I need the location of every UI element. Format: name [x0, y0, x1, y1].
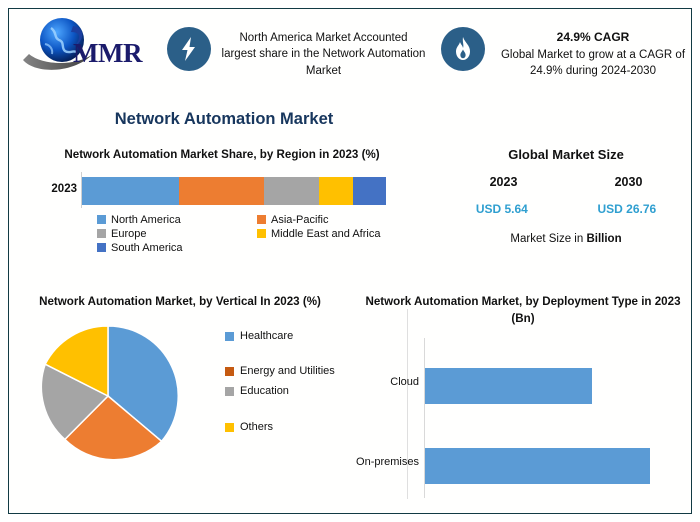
chart-vertical-share-plot: Healthcare Energy and Utilities Educatio… — [15, 321, 345, 471]
legend-swatch-icon — [97, 229, 106, 238]
badge-circle-2 — [441, 27, 485, 71]
global-market-size-panel: Global Market Size 2023 2030 USD 5.64 US… — [441, 147, 691, 245]
chart-region-share: Network Automation Market Share, by Regi… — [9, 147, 439, 254]
infographic-page: MMR North America Market Accounted large… — [0, 0, 700, 522]
legend-label: Healthcare — [240, 329, 293, 344]
logo-text: MMR — [73, 38, 142, 69]
region-stacked-bar — [82, 177, 386, 205]
legend-label: Others — [240, 420, 273, 435]
badge-text-cagr: 24.9% CAGR Global Market to grow at a CA… — [495, 29, 691, 80]
deployment-bar-cloud — [425, 368, 592, 404]
deployment-category-cloud: Cloud — [351, 376, 419, 390]
bar-segment-asia-pacific — [179, 177, 264, 205]
footnote-prefix: Market Size in — [510, 233, 586, 245]
legend-swatch-icon — [97, 243, 106, 252]
legend-item-healthcare: Healthcare — [225, 329, 345, 344]
legend-label: Asia-Pacific — [271, 214, 328, 226]
value-2030: USD 26.76 — [597, 202, 656, 216]
deployment-bar-on-premises — [425, 448, 650, 484]
region-category-label: 2023 — [23, 183, 77, 195]
legend-swatch-icon — [225, 387, 234, 396]
chart-deployment-type-plot: Cloud On-premises — [349, 338, 693, 498]
legend-item-south-america: South America — [97, 242, 257, 254]
year-2030-label: 2030 — [615, 175, 643, 189]
global-market-size-values: USD 5.64 USD 26.76 — [441, 202, 691, 216]
cagr-headline: 24.9% CAGR — [495, 29, 691, 46]
bar-segment-north-america — [82, 177, 179, 205]
bar-segment-south-america — [353, 177, 386, 205]
footnote-unit: Billion — [586, 233, 621, 245]
bar-segment-europe — [264, 177, 319, 205]
cagr-description: Global Market to grow at a CAGR of 24.9%… — [501, 49, 685, 77]
vertical-legend: Healthcare Energy and Utilities Educatio… — [225, 329, 345, 435]
flame-icon — [453, 36, 473, 62]
global-market-size-footnote: Market Size in Billion — [441, 233, 691, 245]
legend-item-north-america: North America — [97, 214, 257, 226]
bar-segment-middle-east-africa — [319, 177, 353, 205]
legend-item-others: Others — [225, 420, 345, 435]
badge-circle-1 — [167, 27, 211, 71]
legend-item-asia-pacific: Asia-Pacific — [257, 214, 427, 226]
pie-chart — [33, 321, 183, 471]
legend-swatch-icon — [225, 367, 234, 376]
chart-region-share-plot: 2023 — [9, 174, 439, 208]
legend-label: Energy and Utilities — [240, 364, 335, 379]
legend-label: North America — [111, 214, 181, 226]
legend-label: South America — [111, 242, 183, 254]
page-border-frame: MMR North America Market Accounted large… — [8, 8, 692, 514]
legend-item-education: Education — [225, 384, 345, 399]
legend-swatch-icon — [97, 215, 106, 224]
deployment-category-on-premises: On-premises — [351, 456, 419, 470]
header: MMR North America Market Accounted large… — [9, 9, 693, 97]
chart-deployment-type: Network Automation Market, by Deployment… — [349, 294, 693, 498]
global-market-size-title: Global Market Size — [441, 147, 691, 162]
legend-item-middle-east-africa: Middle East and Africa — [257, 228, 427, 240]
lightning-bolt-icon — [178, 36, 200, 62]
chart-deployment-type-title: Network Automation Market, by Deployment… — [363, 294, 683, 328]
region-legend: North America Asia-Pacific Europe Middle… — [97, 214, 427, 254]
legend-label: Education — [240, 384, 289, 399]
legend-swatch-icon — [257, 215, 266, 224]
value-2023: USD 5.64 — [476, 202, 528, 216]
legend-swatch-icon — [257, 229, 266, 238]
chart-region-share-title: Network Automation Market Share, by Regi… — [57, 147, 387, 164]
badge-north-america — [167, 27, 211, 71]
legend-item-energy-utilities: Energy and Utilities — [225, 364, 345, 379]
legend-swatch-icon — [225, 332, 234, 341]
badge-text-north-america: North America Market Accounted largest s… — [221, 30, 426, 79]
page-title: Network Automation Market — [9, 110, 439, 129]
global-market-size-years: 2023 2030 — [441, 175, 691, 189]
legend-label: Europe — [111, 228, 146, 240]
chart-vertical-share-title: Network Automation Market, by Vertical I… — [25, 294, 335, 311]
legend-swatch-icon — [225, 423, 234, 432]
badge-cagr — [441, 27, 485, 71]
year-2023-label: 2023 — [490, 175, 518, 189]
legend-label: Middle East and Africa — [271, 228, 380, 240]
chart-vertical-share: Network Automation Market, by Vertical I… — [15, 294, 345, 471]
mmr-logo: MMR — [21, 14, 161, 76]
legend-item-europe: Europe — [97, 228, 257, 240]
